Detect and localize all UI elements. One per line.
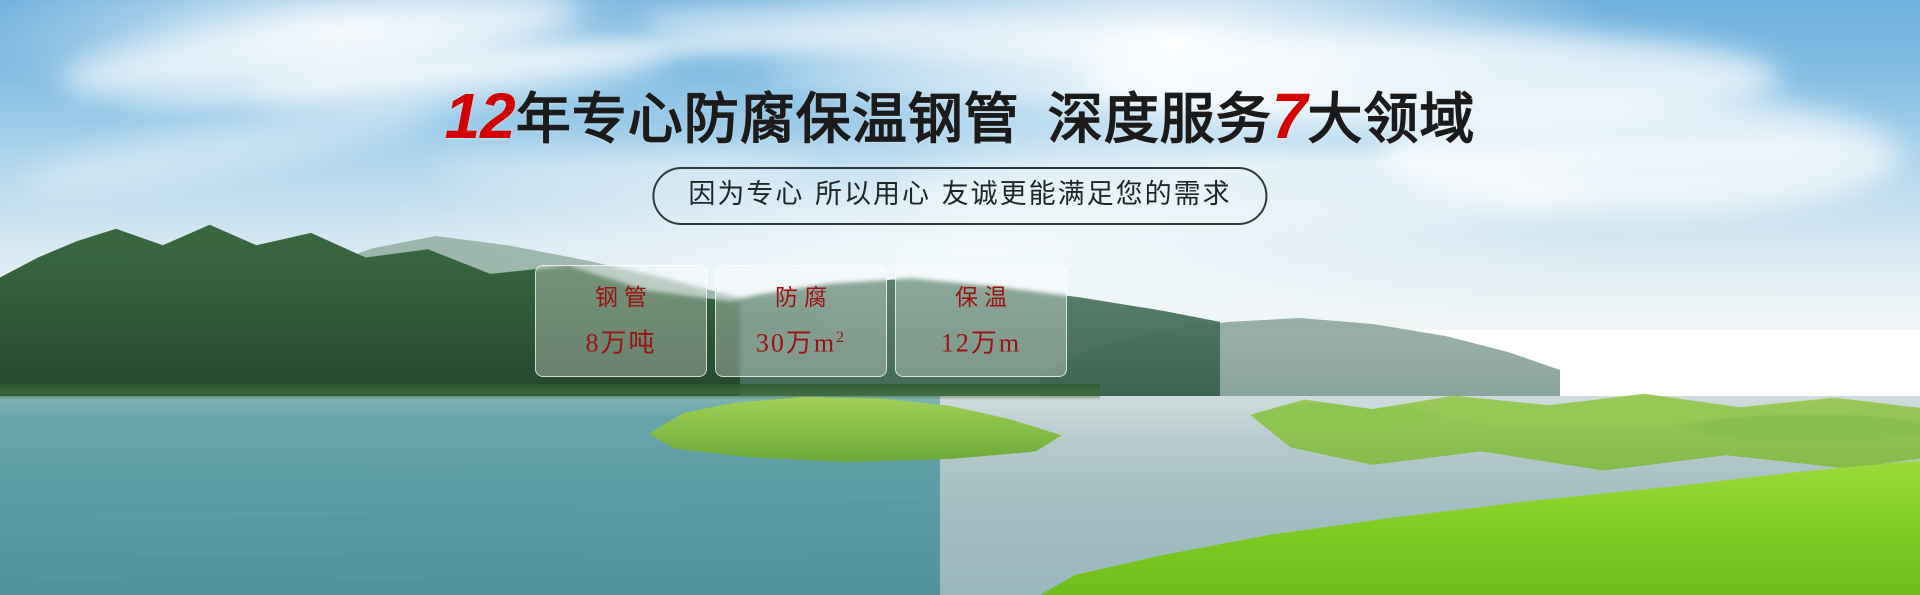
stat-card-value: 12万m — [941, 323, 1021, 359]
headline-years-number: 12 — [445, 80, 516, 152]
hero-banner: 12年专心防腐保温钢管深度服务7大领域 因为专心 所以用心 友诚更能满足您的需求… — [0, 0, 1920, 595]
banner-content: 12年专心防腐保温钢管深度服务7大领域 因为专心 所以用心 友诚更能满足您的需求… — [0, 0, 1920, 595]
stat-value-superscript: 2 — [836, 329, 846, 346]
stat-card-title: 钢管 — [589, 283, 653, 313]
headline-segment-3: 大领域 — [1307, 87, 1475, 151]
stat-value-text: 30万m — [756, 329, 836, 358]
stat-card-title: 保温 — [949, 283, 1013, 313]
stat-card-anticorrosion[interactable]: 防腐 30万m2 — [715, 265, 887, 377]
stat-card-value: 30万m2 — [756, 323, 846, 359]
stat-card-title: 防腐 — [769, 283, 833, 313]
stats-card-group: 钢管 8万吨 防腐 30万m2 保温 12万m — [535, 265, 1067, 377]
banner-headline: 12年专心防腐保温钢管深度服务7大领域 — [0, 85, 1920, 150]
headline-segment-1: 年专心防腐保温钢管 — [516, 87, 1020, 151]
subtitle-pill: 因为专心 所以用心 友诚更能满足您的需求 — [652, 167, 1267, 225]
stat-card-value: 8万吨 — [585, 323, 656, 359]
headline-segment-2: 深度服务 — [1048, 87, 1272, 151]
stat-card-insulation[interactable]: 保温 12万m — [895, 265, 1067, 377]
stat-value-text: 8万吨 — [585, 329, 656, 358]
stat-card-steel-pipe[interactable]: 钢管 8万吨 — [535, 265, 707, 377]
stat-value-text: 12万m — [941, 329, 1021, 358]
headline-fields-number: 7 — [1272, 80, 1308, 152]
